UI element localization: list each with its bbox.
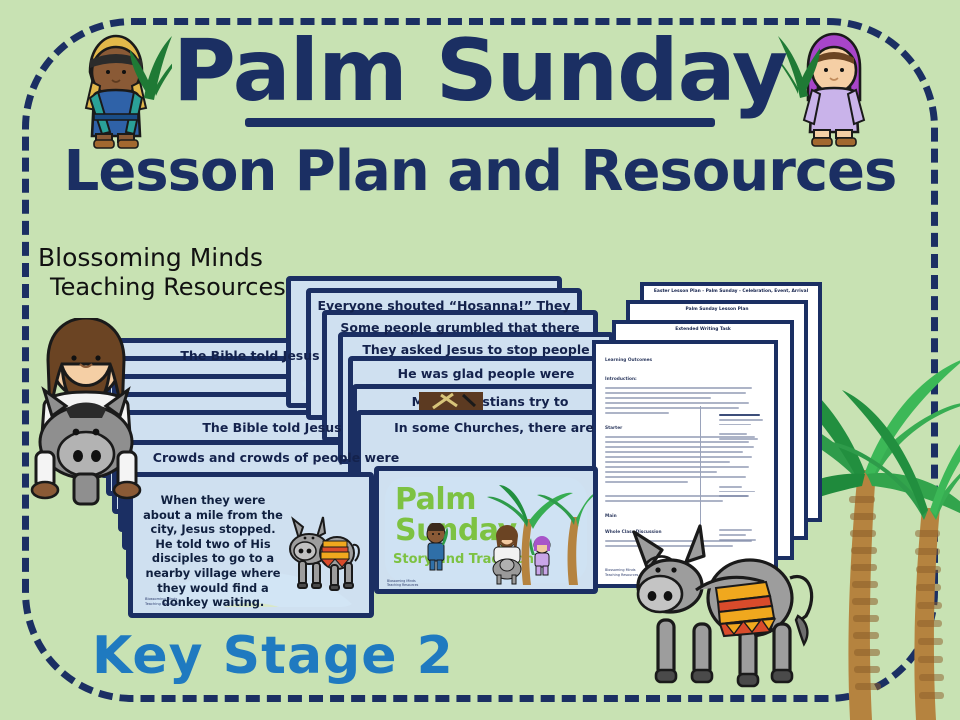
slide-heading: They asked Jesus to stop people	[343, 337, 609, 357]
slide-heading: Everyone shouted “Hosanna!” They	[311, 293, 577, 313]
title-slide-footer: Blossoming Minds Teaching Resources	[387, 579, 418, 587]
cross-thumbnail-icon	[419, 392, 483, 410]
document-header: Easter Lesson Plan - Palm Sunday - Celeb…	[644, 286, 818, 294]
donkey-with-saddle-blanket-icon	[612, 512, 832, 712]
brand-block: Blossoming Minds Teaching Resources	[38, 243, 286, 301]
jesus-riding-donkey-icon	[485, 525, 529, 585]
key-stage-label: Key Stage 2	[92, 626, 454, 686]
brand-name: Blossoming Minds	[38, 243, 286, 273]
cover-title-block: Palm Sunday Lesson Plan and Resources	[0, 28, 960, 204]
title-slide-card: Palm Sunday Story and Traditions	[374, 466, 598, 594]
slide-heading: Some people grumbled that there	[327, 315, 593, 335]
page-subtitle: Lesson Plan and Resources	[0, 139, 960, 204]
featured-slide-card: When they were about a mile from the cit…	[128, 472, 374, 618]
document-header: Palm Sunday Lesson Plan	[630, 304, 804, 312]
page-title: Palm Sunday	[0, 28, 960, 116]
boy-character-icon	[423, 523, 451, 575]
slide-heading: He was glad people were	[353, 361, 619, 381]
slide-heading: In some Churches, there are	[361, 415, 627, 435]
featured-slide-text: When they were about a mile from the cit…	[143, 493, 283, 610]
product-cover: The Bible told Jesus The Bible told Jesu…	[0, 0, 960, 720]
featured-slide-footer: Blossoming Minds Teaching Resources	[145, 597, 180, 607]
girl-character-icon	[529, 535, 555, 581]
brand-tagline: Teaching Resources	[38, 273, 286, 301]
document-section-heading: Introduction:	[605, 377, 765, 382]
slide-heading: Many Christians try to	[357, 389, 623, 409]
title-slide-footer-line-2: Teaching Resources	[387, 583, 418, 587]
palm-tree-icon	[820, 330, 960, 720]
slide-heading: Crowds and crowds of people were	[131, 445, 421, 465]
document-header: Extended Writing Task	[616, 324, 790, 332]
document-section-heading: Learning Outcomes	[605, 358, 765, 363]
donkey-icon	[265, 505, 361, 601]
featured-slide-footer-line-2: Teaching Resources	[145, 602, 180, 607]
